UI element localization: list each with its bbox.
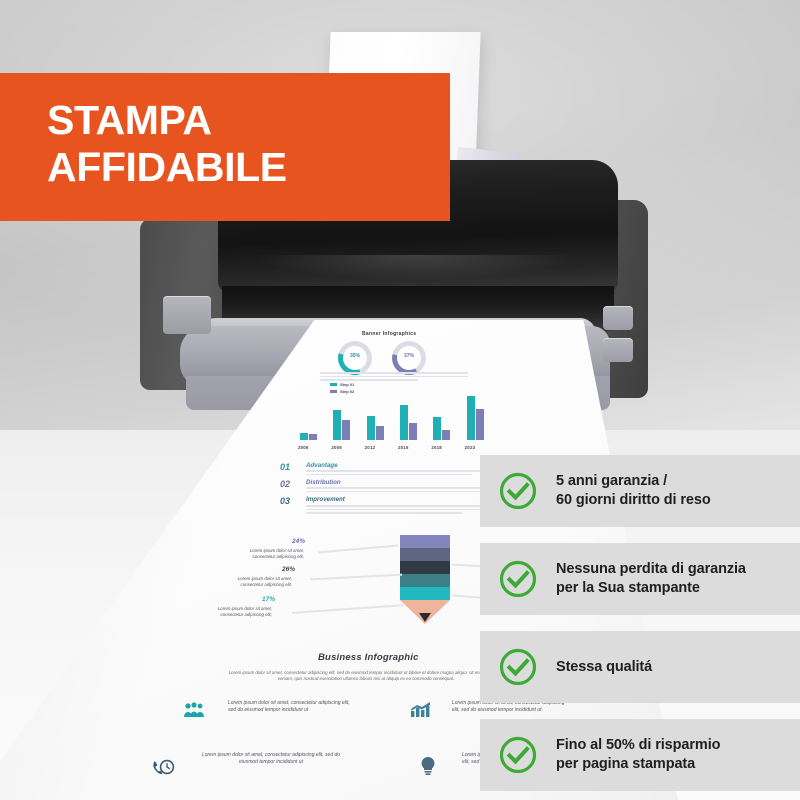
printer-panel-button-left[interactable] — [163, 296, 211, 334]
headline-banner: STAMPAAFFIDABILE — [0, 73, 450, 221]
check-circle-icon — [498, 735, 538, 775]
feature-badge-text-1: 5 anni garanzia / 60 giorni diritto di r… — [556, 472, 711, 510]
feature-badge-3[interactable]: Stessa qualitá — [480, 631, 800, 703]
feature-line-1: Fino al 50% di risparmio — [556, 736, 720, 755]
feature-line-2: 60 giorni diritto di reso — [556, 491, 711, 510]
feature-badge-1[interactable]: 5 anni garanzia / 60 giorni diritto di r… — [480, 455, 800, 527]
feature-badge-2[interactable]: Nessuna perdita di garanzia per la Sua s… — [480, 543, 800, 615]
feature-badge-text-4: Fino al 50% di risparmio per pagina stam… — [556, 736, 720, 774]
feature-badge-text-2: Nessuna perdita di garanzia per la Sua s… — [556, 560, 746, 598]
feature-line-1: 5 anni garanzia / — [556, 472, 711, 491]
check-circle-icon — [498, 647, 538, 687]
headline-line-2: AFFIDABILE — [47, 144, 287, 190]
check-circle-icon — [498, 559, 538, 599]
printer-panel-button-right-bottom[interactable] — [603, 338, 633, 362]
feature-line-2: per pagina stampata — [556, 755, 720, 774]
feature-line-2: per la Sua stampante — [556, 579, 746, 598]
promo-banner-image: Banner Infographics 35% 37% Step 01 Step… — [0, 0, 800, 800]
page-title: STAMPAAFFIDABILE — [47, 97, 287, 191]
feature-badge-4[interactable]: Fino al 50% di risparmio per pagina stam… — [480, 719, 800, 791]
check-circle-icon — [498, 471, 538, 511]
feature-line-1: Nessuna perdita di garanzia — [556, 560, 746, 579]
printer-panel-button-right-top[interactable] — [603, 306, 633, 330]
printer-cover-gloss — [235, 255, 595, 289]
headline-line-1: STAMPA — [47, 97, 212, 143]
feature-badge-text-3: Stessa qualitá — [556, 658, 652, 677]
feature-line-1: Stessa qualitá — [556, 658, 652, 677]
